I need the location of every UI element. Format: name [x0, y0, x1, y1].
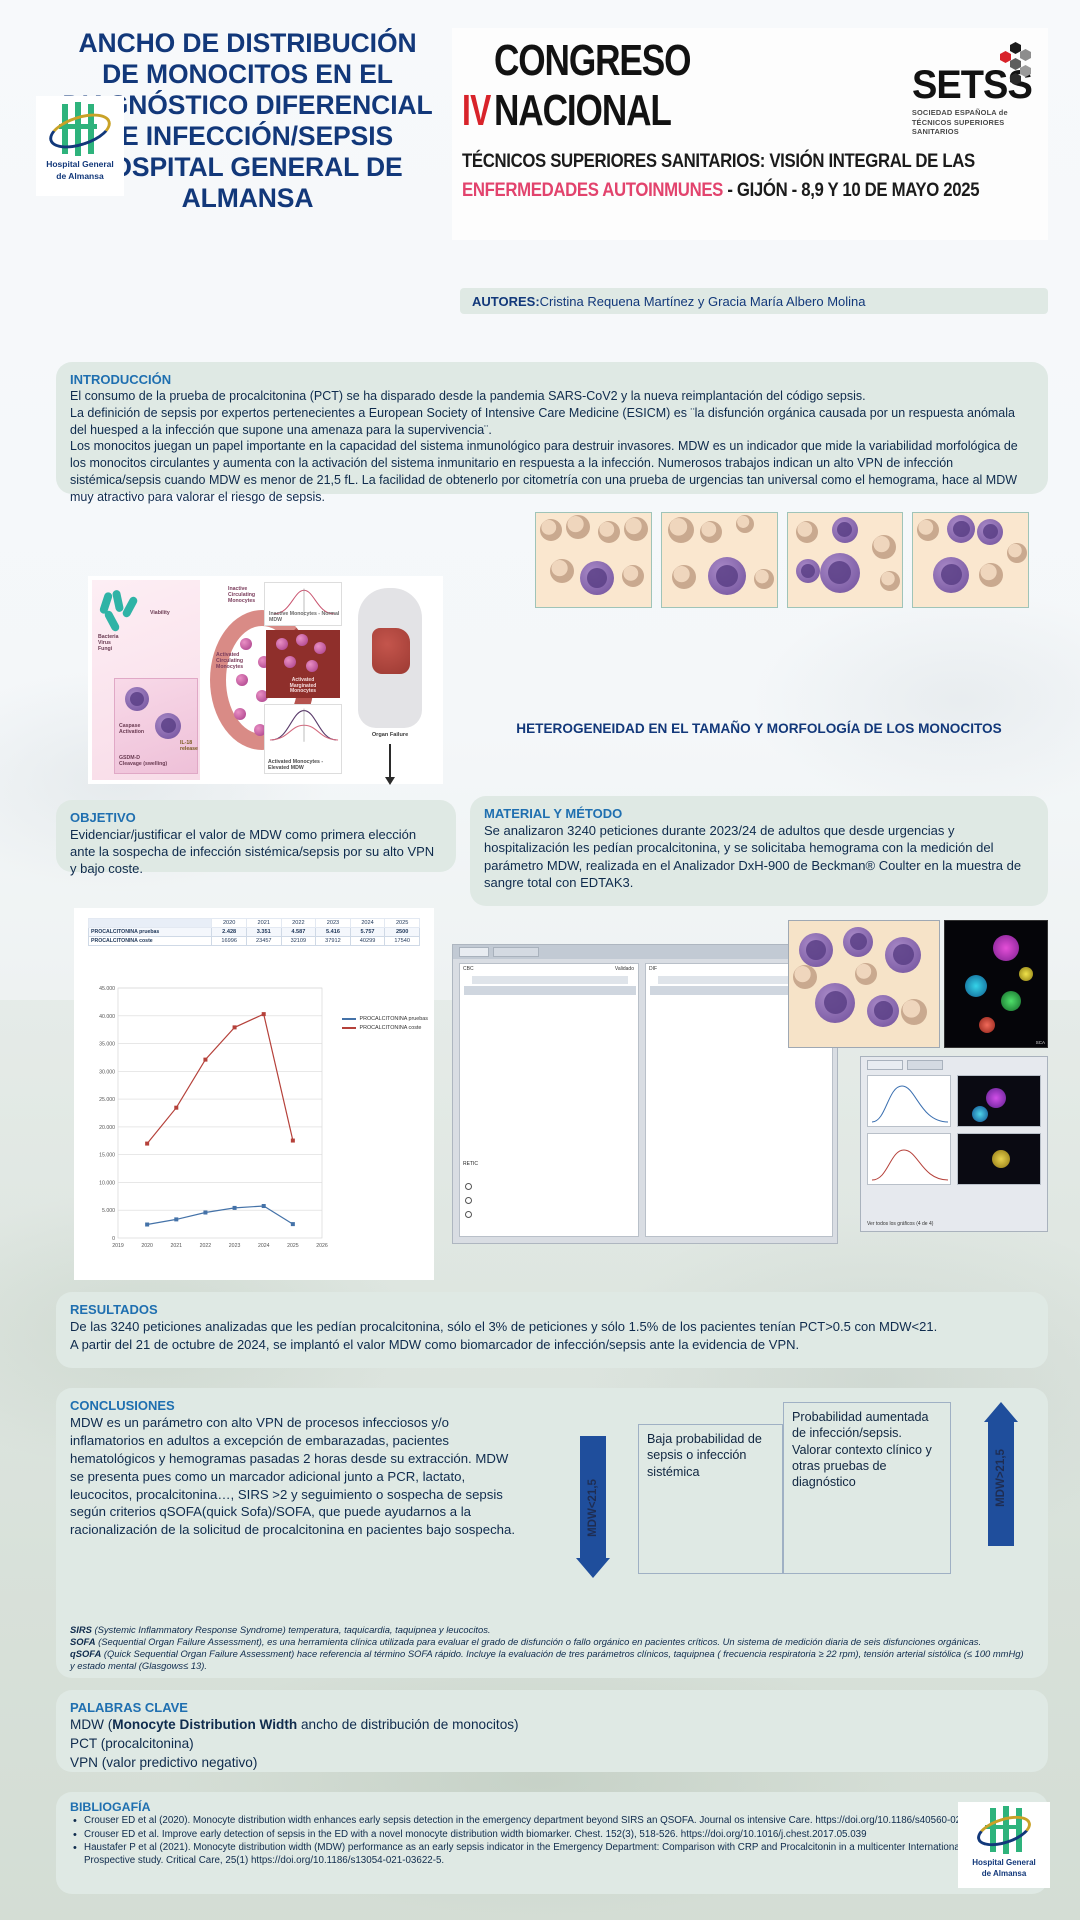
bibliografia-heading: BIBLIOGAFÍA [70, 1800, 1034, 1814]
cbc-panel: CBC Validado [459, 963, 639, 1237]
introduccion-paragraph-1: El consumo de la prueba de procalcitonin… [70, 388, 1034, 405]
table-row-label: PROCALCITONINA pruebas [89, 928, 212, 937]
keyword-vpn: VPN (valor predictivo negativo) [70, 1754, 1034, 1773]
introduccion-heading: INTRODUCCIÓN [70, 372, 1034, 387]
section-objetivo: OBJETIVO Evidenciar/justificar el valor … [56, 800, 456, 872]
procalcitonina-data-table: 2020 2021 2022 2023 2024 2025 PROCALCITO… [88, 918, 420, 946]
legend-label: PROCALCITONINA coste [359, 1025, 421, 1031]
arrow-label-mdw-low: MDW<21,5 [587, 1468, 599, 1548]
hexagon-cluster-icon [990, 42, 1036, 88]
analyzer-tab[interactable] [867, 1060, 903, 1070]
svg-text:30.000: 30.000 [99, 1069, 115, 1075]
up-arrow-mdw-high: MDW>21,5 [984, 1402, 1018, 1546]
pathway-label-gsdmd: GSDM-D Cleavage (swelling) [119, 755, 167, 767]
introduccion-paragraph-2: La definición de sepsis por expertos per… [70, 405, 1034, 439]
poster-root: ANCHO DE DISTRIBUCIÓN DE MONOCITOS EN EL… [0, 0, 1080, 1920]
introduccion-paragraph-3: Los monocitos juegan un papel importante… [70, 438, 1034, 505]
congress-place-dates: - GIJÓN - 8,9 Y 10 DE MAYO 2025 [723, 179, 979, 201]
organ-failure-illustration: Organ Failure [344, 584, 436, 774]
table-col-year: 2024 [350, 919, 385, 928]
material-text: Se analizaron 3240 peticiones durante 20… [484, 822, 1034, 892]
analyzer-screenshot-collage: CBC Validado DIF Val RETIC [452, 920, 1048, 1276]
table-cell: 4.587 [281, 928, 316, 937]
table-col-year: 2025 [385, 919, 420, 928]
conclusiones-text: MDW es un parámetro con alto VPN de proc… [70, 1414, 525, 1539]
elevated-mdw-curve-icon [265, 705, 343, 751]
hospital-emblem-icon [974, 1806, 1034, 1856]
hospital-logo: Hospital General de Almansa [36, 96, 124, 196]
hospital-logo-line1: Hospital General [46, 160, 114, 170]
monocyte-pathway-figure: Bacteria Virus Fungi Viability Caspase A… [88, 576, 443, 784]
resultados-paragraph-1: De las 3240 peticiones analizadas que le… [70, 1318, 1034, 1336]
high-probability-text: Probabilidad aumentada de infección/seps… [792, 1409, 942, 1491]
table-cell: 32109 [281, 937, 316, 946]
blood-smear-thumb [787, 512, 904, 608]
table-col-year: 2020 [212, 919, 247, 928]
table-cell: 17540 [385, 937, 420, 946]
hospital-logo-line1: Hospital General [972, 1858, 1036, 1867]
analyzer-tab[interactable] [459, 947, 489, 957]
hospital-emblem-icon [46, 102, 114, 158]
activated-marginated-panel: Activated Marginated Monocytes [266, 630, 340, 698]
analyzer-tab[interactable] [907, 1060, 943, 1070]
svg-text:2021: 2021 [171, 1243, 183, 1249]
pathway-label-caspase: Caspase Activation [119, 723, 144, 735]
table-col-year: 2021 [246, 919, 281, 928]
pathway-label-activated-circulating: Activated Circulating Monocytes [216, 652, 243, 671]
low-probability-text: Baja probabilidad de sepsis o infección … [647, 1431, 774, 1480]
pathway-label-activated-marginated: Activated Marginated Monocytes [266, 678, 340, 695]
svg-text:2025: 2025 [287, 1243, 299, 1249]
blood-smear-thumb [912, 512, 1029, 608]
society-sub-line2: TÉCNICOS SUPERIORES SANITARIOS [912, 118, 1038, 137]
elevated-mdw-curve-box: Activated Monocytes - Elevated MDW [264, 704, 342, 774]
analyzer-graphs-window: Ver todos los gráficos (4 de 4) [860, 1056, 1048, 1232]
footnote-text-sofa: (Sequential Organ Failure Assessment), e… [96, 1636, 982, 1647]
mdw-decision-diagram: MDW<21,5 Baja probabilidad de sepsis o i… [576, 1402, 1031, 1592]
bacteria-icon [100, 590, 144, 630]
procalcitonina-chart-figure: 2020 2021 2022 2023 2024 2025 PROCALCITO… [74, 908, 434, 1280]
table-col-year: 2022 [281, 919, 316, 928]
keyword-mdw-suffix: ancho de distribución de monocitos) [297, 1717, 518, 1732]
footnote-term-qsofa: qSOFA [70, 1648, 101, 1659]
list-item: Haustafer P et al (2021). Monocyte distr… [70, 1842, 1034, 1867]
bibliografia-list: Crouser ED et al (2020). Monocyte distri… [70, 1815, 1034, 1868]
table-cell: 16996 [212, 937, 247, 946]
analyzer-scattergram: SCA [944, 920, 1048, 1048]
blood-smear-thumb [661, 512, 778, 608]
pathway-label-il18: IL-18 release [180, 740, 198, 752]
svg-text:15.000: 15.000 [99, 1153, 115, 1159]
congress-theme-line: TÉCNICOS SUPERIORES SANITARIOS: VISIÓN I… [462, 150, 957, 173]
analyzer-smear-image [788, 920, 940, 1048]
footnote-term-sirs: SIRS [70, 1624, 92, 1635]
svg-text:2022: 2022 [200, 1243, 212, 1249]
svg-text:0: 0 [112, 1236, 115, 1242]
table-row-label: PROCALCITONINA coste [89, 937, 212, 946]
section-conclusiones: CONCLUSIONES MDW es un parámetro con alt… [56, 1388, 1048, 1678]
authors-label: AUTORES: [472, 294, 540, 309]
congress-theme-red: ENFERMEDADES AUTOINMUNES [462, 179, 723, 201]
pathway-label-bacteria: Bacteria Virus Fungi [98, 634, 118, 653]
svg-text:5.000: 5.000 [102, 1208, 115, 1214]
society-sub-line1: SOCIEDAD ESPAÑOLA de [912, 108, 1008, 117]
footnote-text-sirs: (Systemic Inflammatory Response Syndrome… [92, 1624, 491, 1635]
svg-text:35.000: 35.000 [99, 1042, 115, 1048]
table-header-row: 2020 2021 2022 2023 2024 2025 [89, 919, 420, 928]
table-row: PROCALCITONINA pruebas 2.428 3.351 4.587… [89, 928, 420, 937]
hospital-logo-footer: Hospital General de Almansa [958, 1802, 1050, 1888]
table-cell: 37912 [316, 937, 351, 946]
chart-legend: PROCALCITONINA pruebas PROCALCITONINA co… [342, 1016, 428, 1034]
keyword-mdw-prefix: MDW ( [70, 1717, 112, 1732]
authors-bar: AUTORES: Cristina Requena Martínez y Gra… [460, 288, 1048, 314]
legend-label: PROCALCITONINA pruebas [359, 1016, 428, 1022]
arrow-label-mdw-high: MDW>21,5 [995, 1438, 1007, 1518]
material-heading: MATERIAL Y MÉTODO [484, 806, 1034, 821]
section-palabras-clave: PALABRAS CLAVE MDW (Monocyte Distributio… [56, 1690, 1048, 1772]
legend-entry: PROCALCITONINA pruebas [342, 1016, 428, 1022]
table-cell: 2500 [385, 928, 420, 937]
low-probability-box: Baja probabilidad de sepsis o infección … [638, 1424, 783, 1574]
svg-text:2024: 2024 [258, 1243, 270, 1249]
table-col-year: 2023 [316, 919, 351, 928]
table-row: PROCALCITONINA coste 16996 23457 32109 3… [89, 937, 420, 946]
blood-smear-gallery [535, 512, 1029, 608]
svg-text:2020: 2020 [141, 1243, 153, 1249]
resultados-paragraph-2: A partir del 21 de octubre de 2024, se i… [70, 1336, 1034, 1354]
pathway-label-inactive-circulating: Inactive Circulating Monocytes [228, 586, 255, 605]
objetivo-heading: OBJETIVO [70, 810, 442, 825]
section-bibliografia: BIBLIOGAFÍA Crouser ED et al (2020). Mon… [56, 1792, 1048, 1894]
congress-edition: IV [462, 86, 490, 136]
analyzer-plot [957, 1075, 1041, 1127]
blood-smear-thumb [535, 512, 652, 608]
pathway-label-organ-failure: Organ Failure [344, 732, 436, 738]
svg-text:2023: 2023 [229, 1243, 241, 1249]
table-cell: 2.428 [212, 928, 247, 937]
congress-banner: IV CONGRESO NACIONAL SETSS SOCIEDAD ESPA… [452, 28, 1048, 240]
svg-text:45.000: 45.000 [99, 986, 115, 992]
normal-mdw-curve-box: Inactive Monocytes - Normal MDW [264, 582, 342, 626]
footnote-text-qsofa: (Quick Sequential Organ Failure Assessme… [70, 1648, 1024, 1671]
section-material-metodo: MATERIAL Y MÉTODO Se analizaron 3240 pet… [470, 796, 1048, 906]
list-item: Crouser ED et al (2020). Monocyte distri… [70, 1815, 1034, 1828]
resultados-heading: RESULTADOS [70, 1302, 1034, 1317]
palabras-clave-heading: PALABRAS CLAVE [70, 1700, 1034, 1715]
hospital-logo-line2: de Almansa [982, 1869, 1027, 1878]
table-cell: 5.416 [316, 928, 351, 937]
congress-name: CONGRESO NACIONAL [494, 36, 822, 136]
pathway-label-curve-bottom: Activated Monocytes - Elevated MDW [268, 759, 341, 771]
objetivo-text: Evidenciar/justificar el valor de MDW co… [70, 826, 442, 877]
analyzer-tab[interactable] [493, 947, 539, 957]
pathway-label-curve-top: Inactive Monocytes - Normal MDW [269, 611, 341, 623]
svg-text:2019: 2019 [112, 1243, 124, 1249]
analyzer-plot [957, 1133, 1041, 1185]
analyzer-histogram [867, 1133, 951, 1185]
svg-text:25.000: 25.000 [99, 1097, 115, 1103]
table-cell: 23457 [246, 937, 281, 946]
keyword-pct: PCT (procalcitonina) [70, 1735, 1034, 1754]
footnote-term-sofa: SOFA [70, 1636, 96, 1647]
conclusiones-footnotes: SIRS (Systemic Inflammatory Response Syn… [70, 1624, 1030, 1672]
authors-names: Cristina Requena Martínez y Gracia María… [540, 294, 866, 309]
high-probability-box: Probabilidad aumentada de infección/seps… [783, 1402, 951, 1574]
svg-text:40.000: 40.000 [99, 1014, 115, 1020]
list-item: Crouser ED et al. Improve early detectio… [70, 1829, 1034, 1842]
heterogeneity-caption: HETEROGENEIDAD EN EL TAMAÑO Y MORFOLOGÍA… [470, 720, 1048, 737]
section-introduccion: INTRODUCCIÓN El consumo de la prueba de … [56, 362, 1048, 494]
table-cell: 5.757 [350, 928, 385, 937]
table-cell: 40299 [350, 937, 385, 946]
hospital-logo-line2: de Almansa [56, 172, 103, 182]
section-resultados: RESULTADOS De las 3240 peticiones analiz… [56, 1292, 1048, 1368]
legend-entry: PROCALCITONINA coste [342, 1025, 428, 1031]
analyzer-histogram [867, 1075, 951, 1127]
svg-text:2026: 2026 [316, 1243, 328, 1249]
table-cell: 3.351 [246, 928, 281, 937]
pathogen-panel: Bacteria Virus Fungi Viability Caspase A… [92, 580, 200, 780]
keyword-mdw-bold: Monocyte Distribution Width [112, 1717, 297, 1732]
svg-text:20.000: 20.000 [99, 1125, 115, 1131]
svg-text:10.000: 10.000 [99, 1180, 115, 1186]
down-arrow-icon [389, 744, 391, 778]
down-arrow-mdw-low: MDW<21,5 [576, 1436, 610, 1578]
pathway-label-viability: Viability [150, 610, 170, 616]
caspase-inset: Caspase Activation GSDM-D Cleavage (swel… [114, 678, 198, 774]
analyzer-software-window: CBC Validado DIF Val RETIC [452, 944, 838, 1244]
